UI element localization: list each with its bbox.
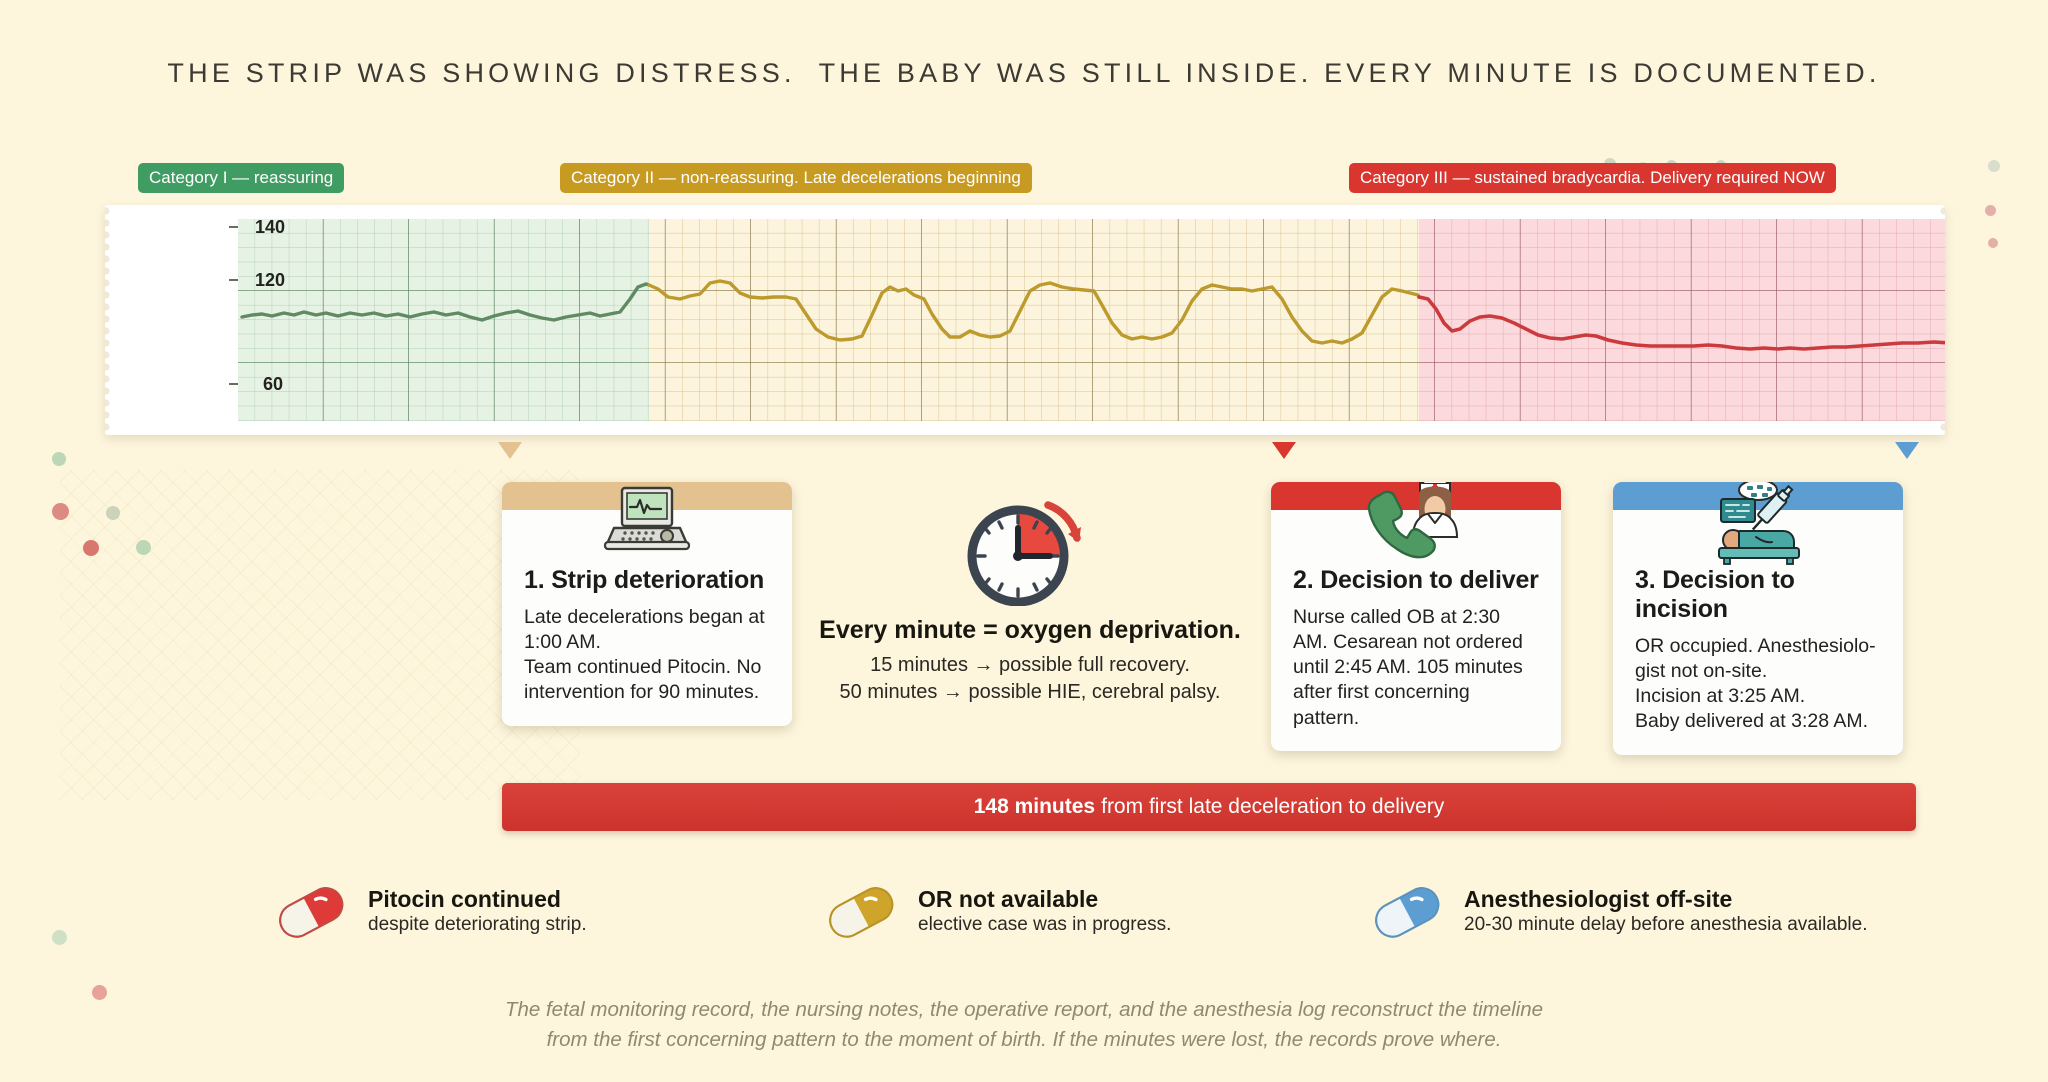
decor-dot (1988, 238, 1998, 248)
capsule-icon (272, 882, 350, 942)
chart-svg (238, 219, 1945, 421)
decor-dot (1985, 205, 1996, 216)
clock-callout: Every minute = oxygen deprivation. 15 mi… (800, 498, 1260, 706)
card-heading: 2. Decision to deliver (1271, 566, 1561, 595)
failure-title: Anesthesiologist off-site (1464, 887, 1868, 913)
decor-dot (52, 452, 66, 466)
summary-bar: 148 minutes from first late deceleration… (502, 783, 1916, 831)
decor-dot (52, 503, 69, 520)
summary-bar-rest: from first late deceleration to delivery (1101, 795, 1444, 819)
decor-dot (1988, 160, 2000, 172)
card-heading: 1. Strip deterioration (502, 566, 792, 595)
card-body: Late decelerations began at 1:00 AM.Team… (502, 605, 792, 726)
ylabel-60: 60 (263, 374, 283, 395)
marker-decision-to-deliver (1272, 442, 1296, 459)
card-heading: 3. Decision to incision (1613, 566, 1903, 624)
failure-subtitle: despite deteriorating strip. (368, 913, 587, 937)
decor-dot (52, 930, 67, 945)
summary-bar-strong: 148 minutes (974, 795, 1095, 819)
timeline-card-1[interactable]: 1. Strip deterioration Late deceleration… (502, 482, 792, 726)
failure-item-or: OR not available elective case was in pr… (822, 882, 1171, 942)
clock-icon (800, 498, 1260, 606)
decor-dot (83, 540, 99, 556)
ytick-140 (229, 226, 238, 228)
ytick-120 (229, 279, 238, 281)
legend-category-1: Category I — reassuring (138, 163, 344, 193)
fetal-strip-chart: 140 120 60 (105, 205, 1945, 435)
clock-headline: Every minute = oxygen deprivation. (800, 616, 1260, 645)
laptop-monitor-icon (502, 484, 792, 562)
anesthesia-patient-icon (1613, 484, 1903, 562)
timeline-card-3[interactable]: 3. Decision to incision OR occupied. Ane… (1613, 482, 1903, 755)
failure-subtitle: 20-30 minute delay before anesthesia ava… (1464, 913, 1868, 937)
card-body: Nurse called OB at 2:30 AM. Cesarean not… (1271, 605, 1561, 751)
legend-category-2: Category II — non-reassuring. Late decel… (560, 163, 1032, 193)
capsule-icon (822, 882, 900, 942)
ylabel-140: 140 (255, 217, 285, 238)
clock-line-1: 15 minutes → possible full recovery. (800, 652, 1260, 679)
legend-category-3: Category III — sustained bradycardia. De… (1349, 163, 1836, 193)
failure-title: Pitocin continued (368, 887, 587, 913)
capsule-icon (1368, 882, 1446, 942)
footer-line-2: from the first concerning pattern to the… (0, 1025, 2048, 1055)
failure-item-anesthesiologist: Anesthesiologist off-site 20-30 minute d… (1368, 882, 1868, 942)
footer-note: The fetal monitoring record, the nursing… (0, 995, 2048, 1054)
chart-plot-area (238, 219, 1945, 421)
ylabel-120: 120 (255, 270, 285, 291)
page-title: THE STRIP WAS SHOWING DISTRESS. THE BABY… (0, 58, 2048, 89)
failure-title: OR not available (918, 887, 1171, 913)
nurse-phone-call-icon (1271, 484, 1561, 562)
marker-decision-to-incision (1895, 442, 1919, 459)
marker-strip-deterioration (498, 442, 522, 459)
failure-subtitle: elective case was in progress. (918, 913, 1171, 937)
clock-line-2: 50 minutes → possible HIE, cerebral pals… (800, 679, 1260, 706)
footer-line-1: The fetal monitoring record, the nursing… (0, 995, 2048, 1025)
timeline-card-2[interactable]: 2. Decision to deliver Nurse called OB a… (1271, 482, 1561, 751)
card-body: OR occupied. Anesthesiolo-gist not on-si… (1613, 634, 1903, 755)
decor-dot (106, 506, 120, 520)
ytick-60 (229, 383, 238, 385)
strip-perforation-left (105, 205, 114, 435)
failure-item-pitocin: Pitocin continued despite deteriorating … (272, 882, 587, 942)
decor-dot (136, 540, 151, 555)
